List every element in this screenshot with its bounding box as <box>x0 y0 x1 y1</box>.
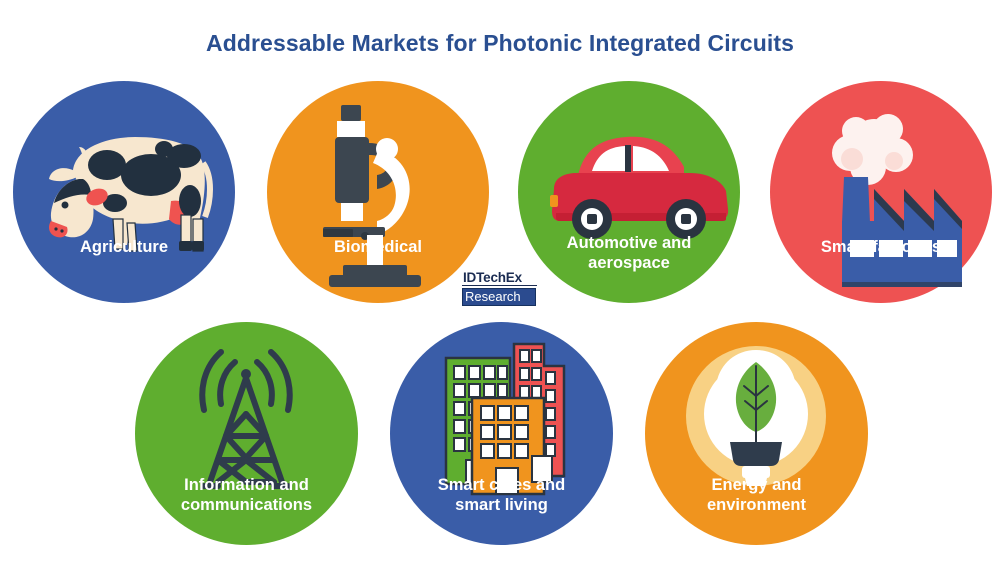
market-label-information-and-communications: Information and communications <box>144 475 349 515</box>
market-label-automotive-and-aerospace: Automotive and aerospace <box>527 233 731 273</box>
market-label-smart-cities-and-smart-living: Smart cities and smart living <box>399 475 604 515</box>
market-circle-agriculture[interactable]: Agriculture <box>13 81 235 303</box>
market-label-smart-factories: Smart factories <box>779 237 983 257</box>
market-label-energy-and-environment: Energy and environment <box>654 475 859 515</box>
market-circle-automotive-and-aerospace[interactable]: Automotive and aerospace <box>518 81 740 303</box>
market-circle-smart-factories[interactable]: Smart factories <box>770 81 992 303</box>
market-circle-biomedical[interactable]: Biomedical <box>267 81 489 303</box>
idtechex-research-logo: IDTechEx Research <box>461 268 543 308</box>
microscope-icon <box>267 81 489 303</box>
market-label-agriculture: Agriculture <box>22 237 226 257</box>
market-circle-information-and-communications[interactable]: Information and communications <box>135 322 358 545</box>
factory-icon <box>770 81 992 303</box>
market-label-biomedical: Biomedical <box>276 237 480 257</box>
market-circle-energy-and-environment[interactable]: Energy and environment <box>645 322 868 545</box>
logo-brand-text: IDTechEx <box>462 270 537 286</box>
cow-icon <box>13 81 235 303</box>
page-title: Addressable Markets for Photonic Integra… <box>0 30 1000 57</box>
logo-subtitle-text: Research <box>462 288 536 306</box>
market-circle-smart-cities-and-smart-living[interactable]: Smart cities and smart living <box>390 322 613 545</box>
infographic-canvas: Addressable Markets for Photonic Integra… <box>0 0 1000 562</box>
